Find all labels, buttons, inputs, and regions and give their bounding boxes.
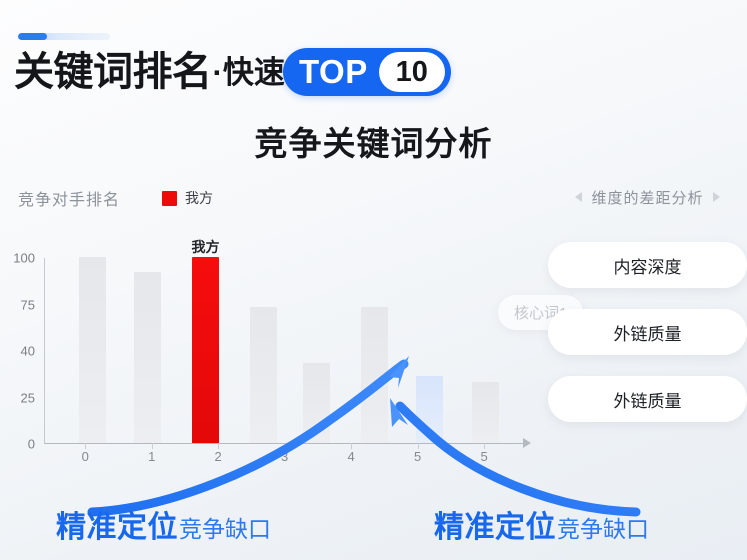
x-axis-tick-label: 4	[348, 449, 355, 464]
x-axis-tick-mark	[418, 443, 419, 449]
x-axis-tick-mark	[218, 443, 219, 449]
x-axis-tick-label: 5	[480, 449, 487, 464]
bottom-caption-right-strong: 精准定位	[434, 502, 556, 546]
x-axis-tick-mark	[351, 443, 352, 449]
dimension-card[interactable]: 内容深度	[548, 242, 747, 288]
top-rank-badge-count: 10	[379, 52, 445, 92]
chart-bar[interactable]	[472, 382, 499, 443]
chart-bar[interactable]	[134, 272, 161, 443]
x-axis-tick-mark	[285, 443, 286, 449]
top-rank-badge-label: TOP	[299, 55, 368, 90]
chart-plot-area: 10075402500123455我方	[44, 258, 526, 444]
chart-legend-row: 竞争对手排名 我方	[18, 186, 213, 210]
legend-color-swatch-icon	[162, 191, 177, 206]
x-axis-tick-label: 0	[82, 449, 89, 464]
y-axis-line	[44, 258, 45, 444]
chart-bar[interactable]	[416, 376, 443, 443]
chart-bar[interactable]	[250, 307, 277, 443]
top-rank-badge: TOP 10	[283, 48, 451, 96]
x-axis-tick-mark	[152, 443, 153, 449]
bottom-caption-left-strong: 精准定位	[56, 502, 178, 546]
y-axis-tick-label: 75	[21, 297, 35, 312]
chart-bar[interactable]	[192, 257, 219, 443]
headline-main-text: 关键词排名	[14, 52, 212, 92]
bottom-caption-left-light: 竞争缺口	[179, 510, 271, 544]
page-title: 竞争关键词分析	[0, 117, 747, 165]
dimension-card[interactable]: 外链质量	[548, 376, 747, 422]
triangle-right-icon[interactable]	[713, 192, 720, 202]
chart-legend-entry[interactable]: 我方	[162, 188, 213, 208]
x-axis-tick-label: 3	[281, 449, 288, 464]
x-axis-tick-mark	[484, 443, 485, 449]
bottom-caption-right: 精准定位 竞争缺口	[434, 502, 649, 546]
headline-sub-text: ·快速	[213, 57, 285, 88]
chart-panel: 竞争对手排名 我方 10075402500123455我方	[0, 186, 540, 486]
dimension-panel: 维度的差距分析 内容深度 外链质量 外链质量	[548, 186, 747, 422]
dimension-card-label: 内容深度	[614, 253, 682, 278]
x-axis-tick-label: 5	[414, 449, 421, 464]
y-axis-tick-label: 100	[13, 251, 35, 266]
y-axis-tick-label: 40	[21, 344, 35, 359]
chart-bar[interactable]	[303, 363, 330, 443]
chart-caption: 竞争对手排名	[18, 186, 120, 210]
dimension-card-label: 外链质量	[614, 387, 682, 412]
x-axis-tick-mark	[85, 443, 86, 449]
dimension-card-list: 内容深度 外链质量 外链质量	[548, 242, 747, 422]
chart-bar-label: 我方	[191, 237, 219, 257]
x-axis-tick-label: 2	[215, 449, 222, 464]
progress-bar	[18, 33, 110, 40]
chart-bar[interactable]	[79, 257, 106, 443]
progress-bar-fill	[18, 33, 47, 40]
legend-label: 我方	[185, 188, 213, 208]
dimension-panel-header: 维度的差距分析	[548, 186, 747, 208]
bottom-caption-right-light: 竞争缺口	[557, 510, 649, 544]
dimension-card[interactable]: 外链质量	[548, 309, 747, 355]
y-axis-tick-label: 25	[21, 390, 35, 405]
y-axis-tick-label: 0	[28, 437, 35, 452]
bottom-caption-left: 精准定位 竞争缺口	[56, 502, 271, 546]
dimension-panel-title: 维度的差距分析	[591, 187, 703, 208]
chart-bar[interactable]	[361, 307, 388, 443]
dimension-card-label: 外链质量	[614, 320, 682, 345]
triangle-left-icon[interactable]	[575, 192, 582, 202]
x-axis-arrow-icon	[523, 438, 531, 448]
headline: 关键词排名 ·快速	[14, 44, 285, 100]
x-axis-tick-label: 1	[148, 449, 155, 464]
